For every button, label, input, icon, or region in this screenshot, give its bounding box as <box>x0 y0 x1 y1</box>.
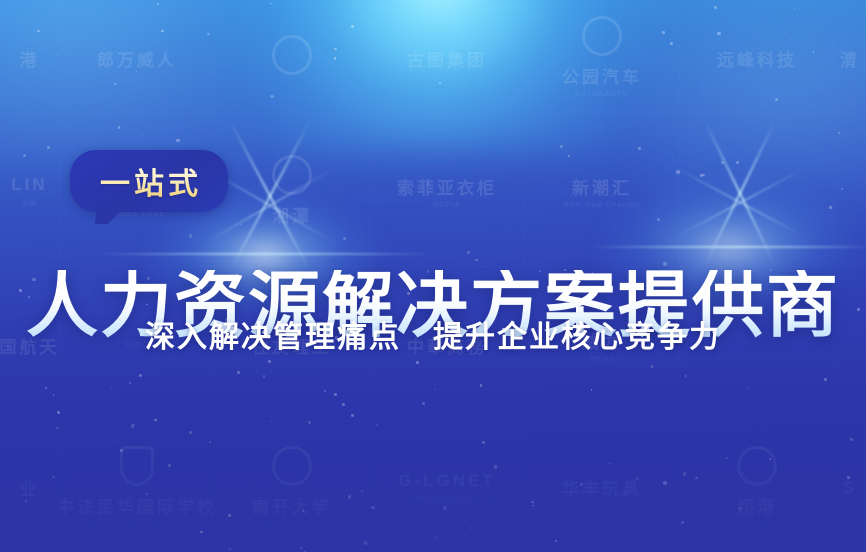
hero-banner: 港郎万威人古图集团公园汽车DAYUNAUTO远峰科技清LIN山雨LOHAS CA… <box>0 0 866 552</box>
client-logo-name: 清 <box>840 46 860 71</box>
client-logo-subname: SOFIA <box>433 202 460 209</box>
client-logo-name: 索菲亚衣柜 <box>397 174 497 199</box>
client-logo-watermark: 索菲亚衣柜SOFIA <box>370 115 525 267</box>
client-logo-watermark: 新潮汇NSU New Channel <box>525 115 680 267</box>
client-logo-subname: 山雨 <box>21 198 37 208</box>
client-logo-name: LIN <box>11 175 47 195</box>
client-logo-watermark <box>215 0 370 115</box>
client-logo-watermark: LIN山雨 <box>0 115 60 267</box>
client-logo-name: 远峰科技 <box>717 46 797 71</box>
client-logo-name: 公园汽车 <box>562 63 642 88</box>
client-logo-name: 古图集团 <box>407 46 487 71</box>
client-logo-name: 郎万威人 <box>97 46 177 71</box>
banner-subtitle: 深入解决管理痛点 提升企业核心竞争力 <box>0 312 866 356</box>
client-logo-watermark: 远峰科技 <box>680 0 835 115</box>
client-logo-watermark: 湘潭 <box>215 115 370 267</box>
client-logo-watermark <box>680 115 835 267</box>
client-logo-watermark: 古图集团 <box>370 0 525 115</box>
client-logo-name: 港 <box>20 46 40 71</box>
client-logo-watermark: 郎万威人 <box>60 0 215 115</box>
client-logo-subname: NSU New Channel <box>564 202 641 209</box>
client-logo-name: 新潮汇 <box>572 174 632 199</box>
one-stop-badge: 一站式 <box>70 150 230 226</box>
logo-ring-icon <box>272 35 312 75</box>
client-logo-watermark: 清 <box>835 0 866 115</box>
badge-label: 一站式 <box>70 150 228 212</box>
client-logo-watermark <box>835 115 866 267</box>
client-logo-name: 湘潭 <box>272 202 312 227</box>
client-logo-watermark: 公园汽车DAYUNAUTO <box>525 0 680 115</box>
client-logo-watermark: 港 <box>0 0 60 115</box>
client-logo-subname: DAYUNAUTO <box>575 91 629 98</box>
logo-ring-icon <box>582 16 622 56</box>
logo-ring-icon <box>272 155 312 195</box>
